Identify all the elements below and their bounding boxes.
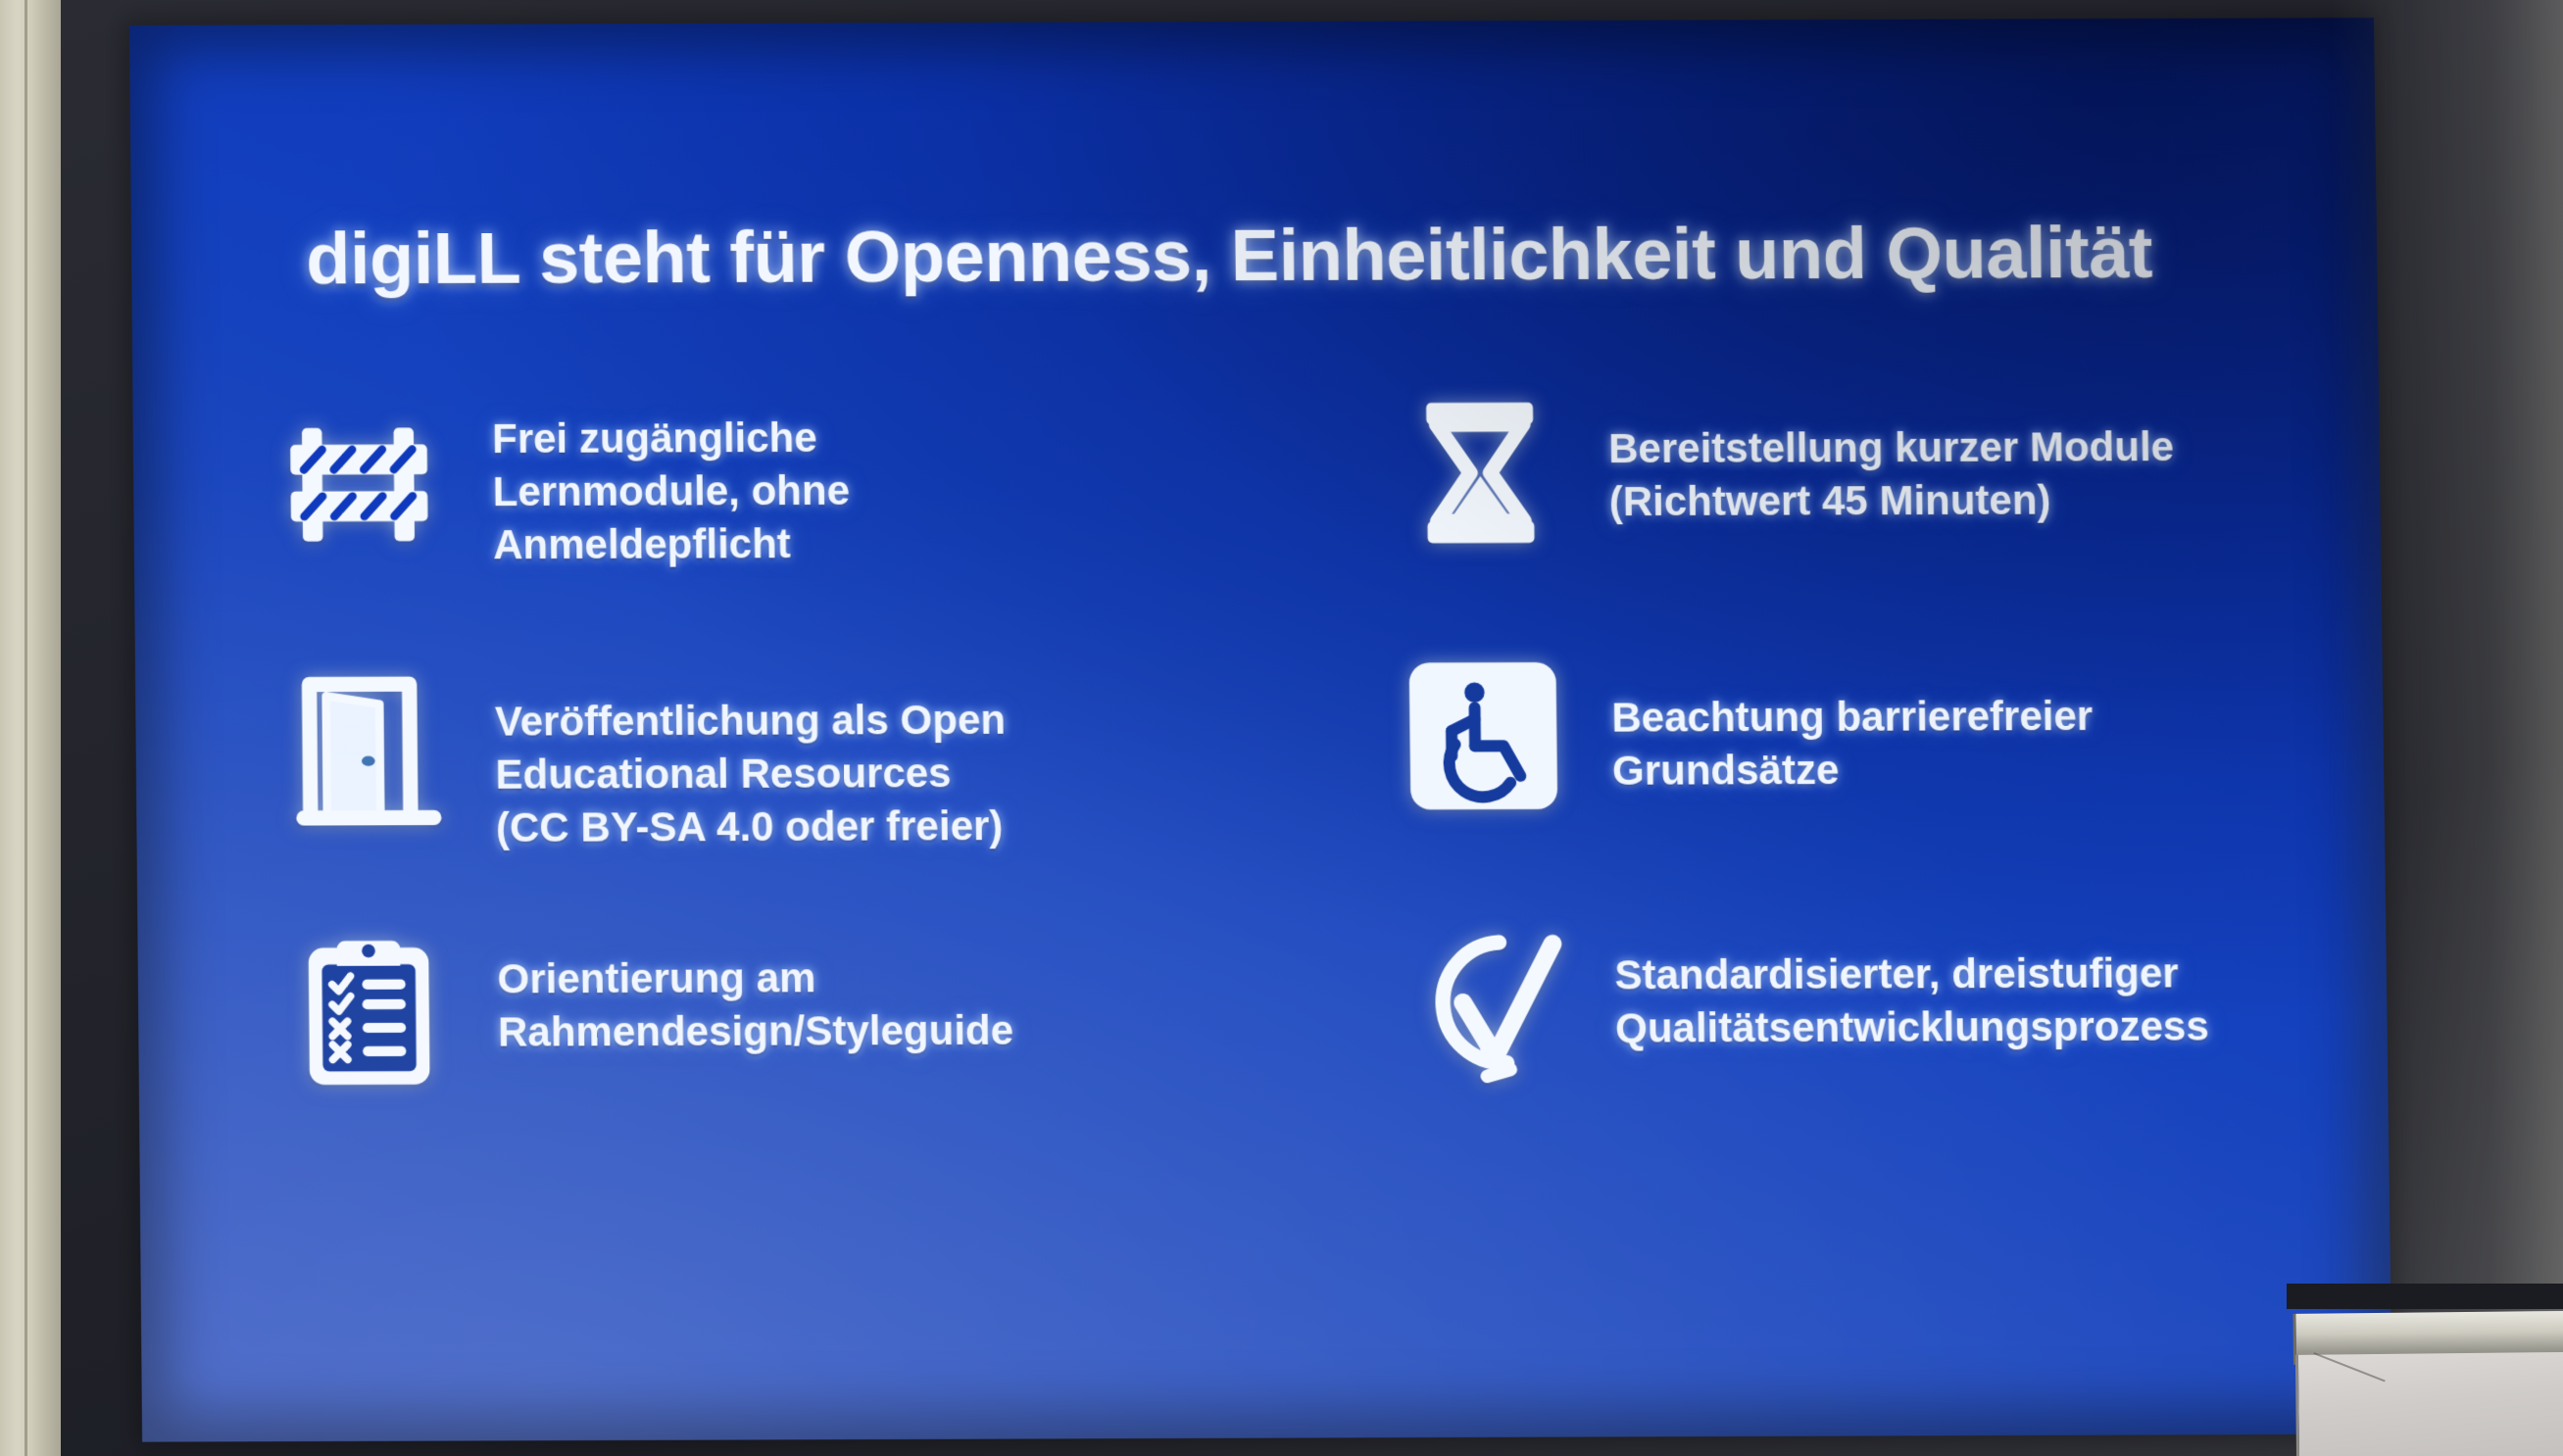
flipchart-easel <box>2285 1291 2563 1456</box>
feature-line: Qualitätsentwicklungsprozess <box>1615 999 2339 1055</box>
feature-text: Standardisierter, dreistufiger Qualitäts… <box>1614 946 2339 1054</box>
feature-line: Rahmendesign/Styleguide <box>498 1002 1278 1058</box>
feature-text: Orientierung am Rahmendesign/Styleguide <box>497 949 1278 1058</box>
feature-item-qualitaetsentwicklungsprozess: Standardisierter, dreistufiger Qualitäts… <box>1402 907 2340 1174</box>
feature-item-bereitstellung-kurzer-module: Bereitstellung kurzer Module (Richtwert … <box>1396 380 2333 647</box>
hourglass-icon <box>1396 389 1564 557</box>
feature-text: Beachtung barrierefreier Grundsätze <box>1611 689 2335 797</box>
feature-text: Veröffentlichung als Open Educational Re… <box>495 693 1276 853</box>
feature-line: Standardisierter, dreistufiger <box>1614 946 2338 1002</box>
open-door-icon <box>282 664 451 832</box>
feature-text: Bereitstellung kurzer Module (Richtwert … <box>1608 419 2332 527</box>
flipchart-paper <box>2295 1352 2563 1456</box>
wheelchair-accessibility-icon <box>1399 653 1567 820</box>
feature-text: Frei zugängliche Lernmodule, ohne Anmeld… <box>492 410 1272 570</box>
feature-line: Lernmodule, ohne <box>492 462 1271 518</box>
feature-line: Beachtung barrierefreier <box>1611 689 2335 744</box>
wall-left-strip <box>0 0 61 1456</box>
slide-title: digiLL steht für Openness, Einheitlichke… <box>306 215 2248 298</box>
feature-line: Bereitstellung kurzer Module <box>1608 419 2331 474</box>
feature-line: (CC BY-SA 4.0 oder freier) <box>496 799 1276 854</box>
feature-line: Educational Resources <box>495 746 1275 801</box>
feature-line: Anmeldepflicht <box>493 515 1272 571</box>
feature-line: Veröffentlichung als Open <box>495 693 1275 749</box>
feature-item-orientierung-rahmendesign: Orientierung am Rahmendesign/Styleguide <box>284 910 1279 1178</box>
photographed-presentation-scene: digiLL steht für Openness, Einheitlichke… <box>0 0 2563 1456</box>
clipboard-checklist-icon <box>285 927 454 1094</box>
feature-item-frei-zugaengliche-lernmodule: Frei zugängliche Lernmodule, ohne Anmeld… <box>279 384 1273 651</box>
presentation-slide: digiLL steht für Openness, Einheitlichke… <box>129 18 2392 1442</box>
cycle-checkmark-icon <box>1402 915 1570 1083</box>
feature-line: Frei zugängliche <box>492 410 1271 465</box>
feature-item-barrierefreiheit: Beachtung barrierefreier Grundsätze <box>1399 644 2337 910</box>
feature-line: Grundsätze <box>1612 742 2336 797</box>
feature-line: Orientierung am <box>497 949 1277 1005</box>
road-barrier-icon <box>280 401 449 568</box>
feature-line: (Richtwert 45 Minuten) <box>1608 472 2331 527</box>
feature-item-veroeffentlichung-oer: Veröffentlichung als Open Educational Re… <box>282 648 1276 914</box>
feature-grid: Frei zugängliche Lernmodule, ohne Anmeld… <box>279 380 2340 1177</box>
